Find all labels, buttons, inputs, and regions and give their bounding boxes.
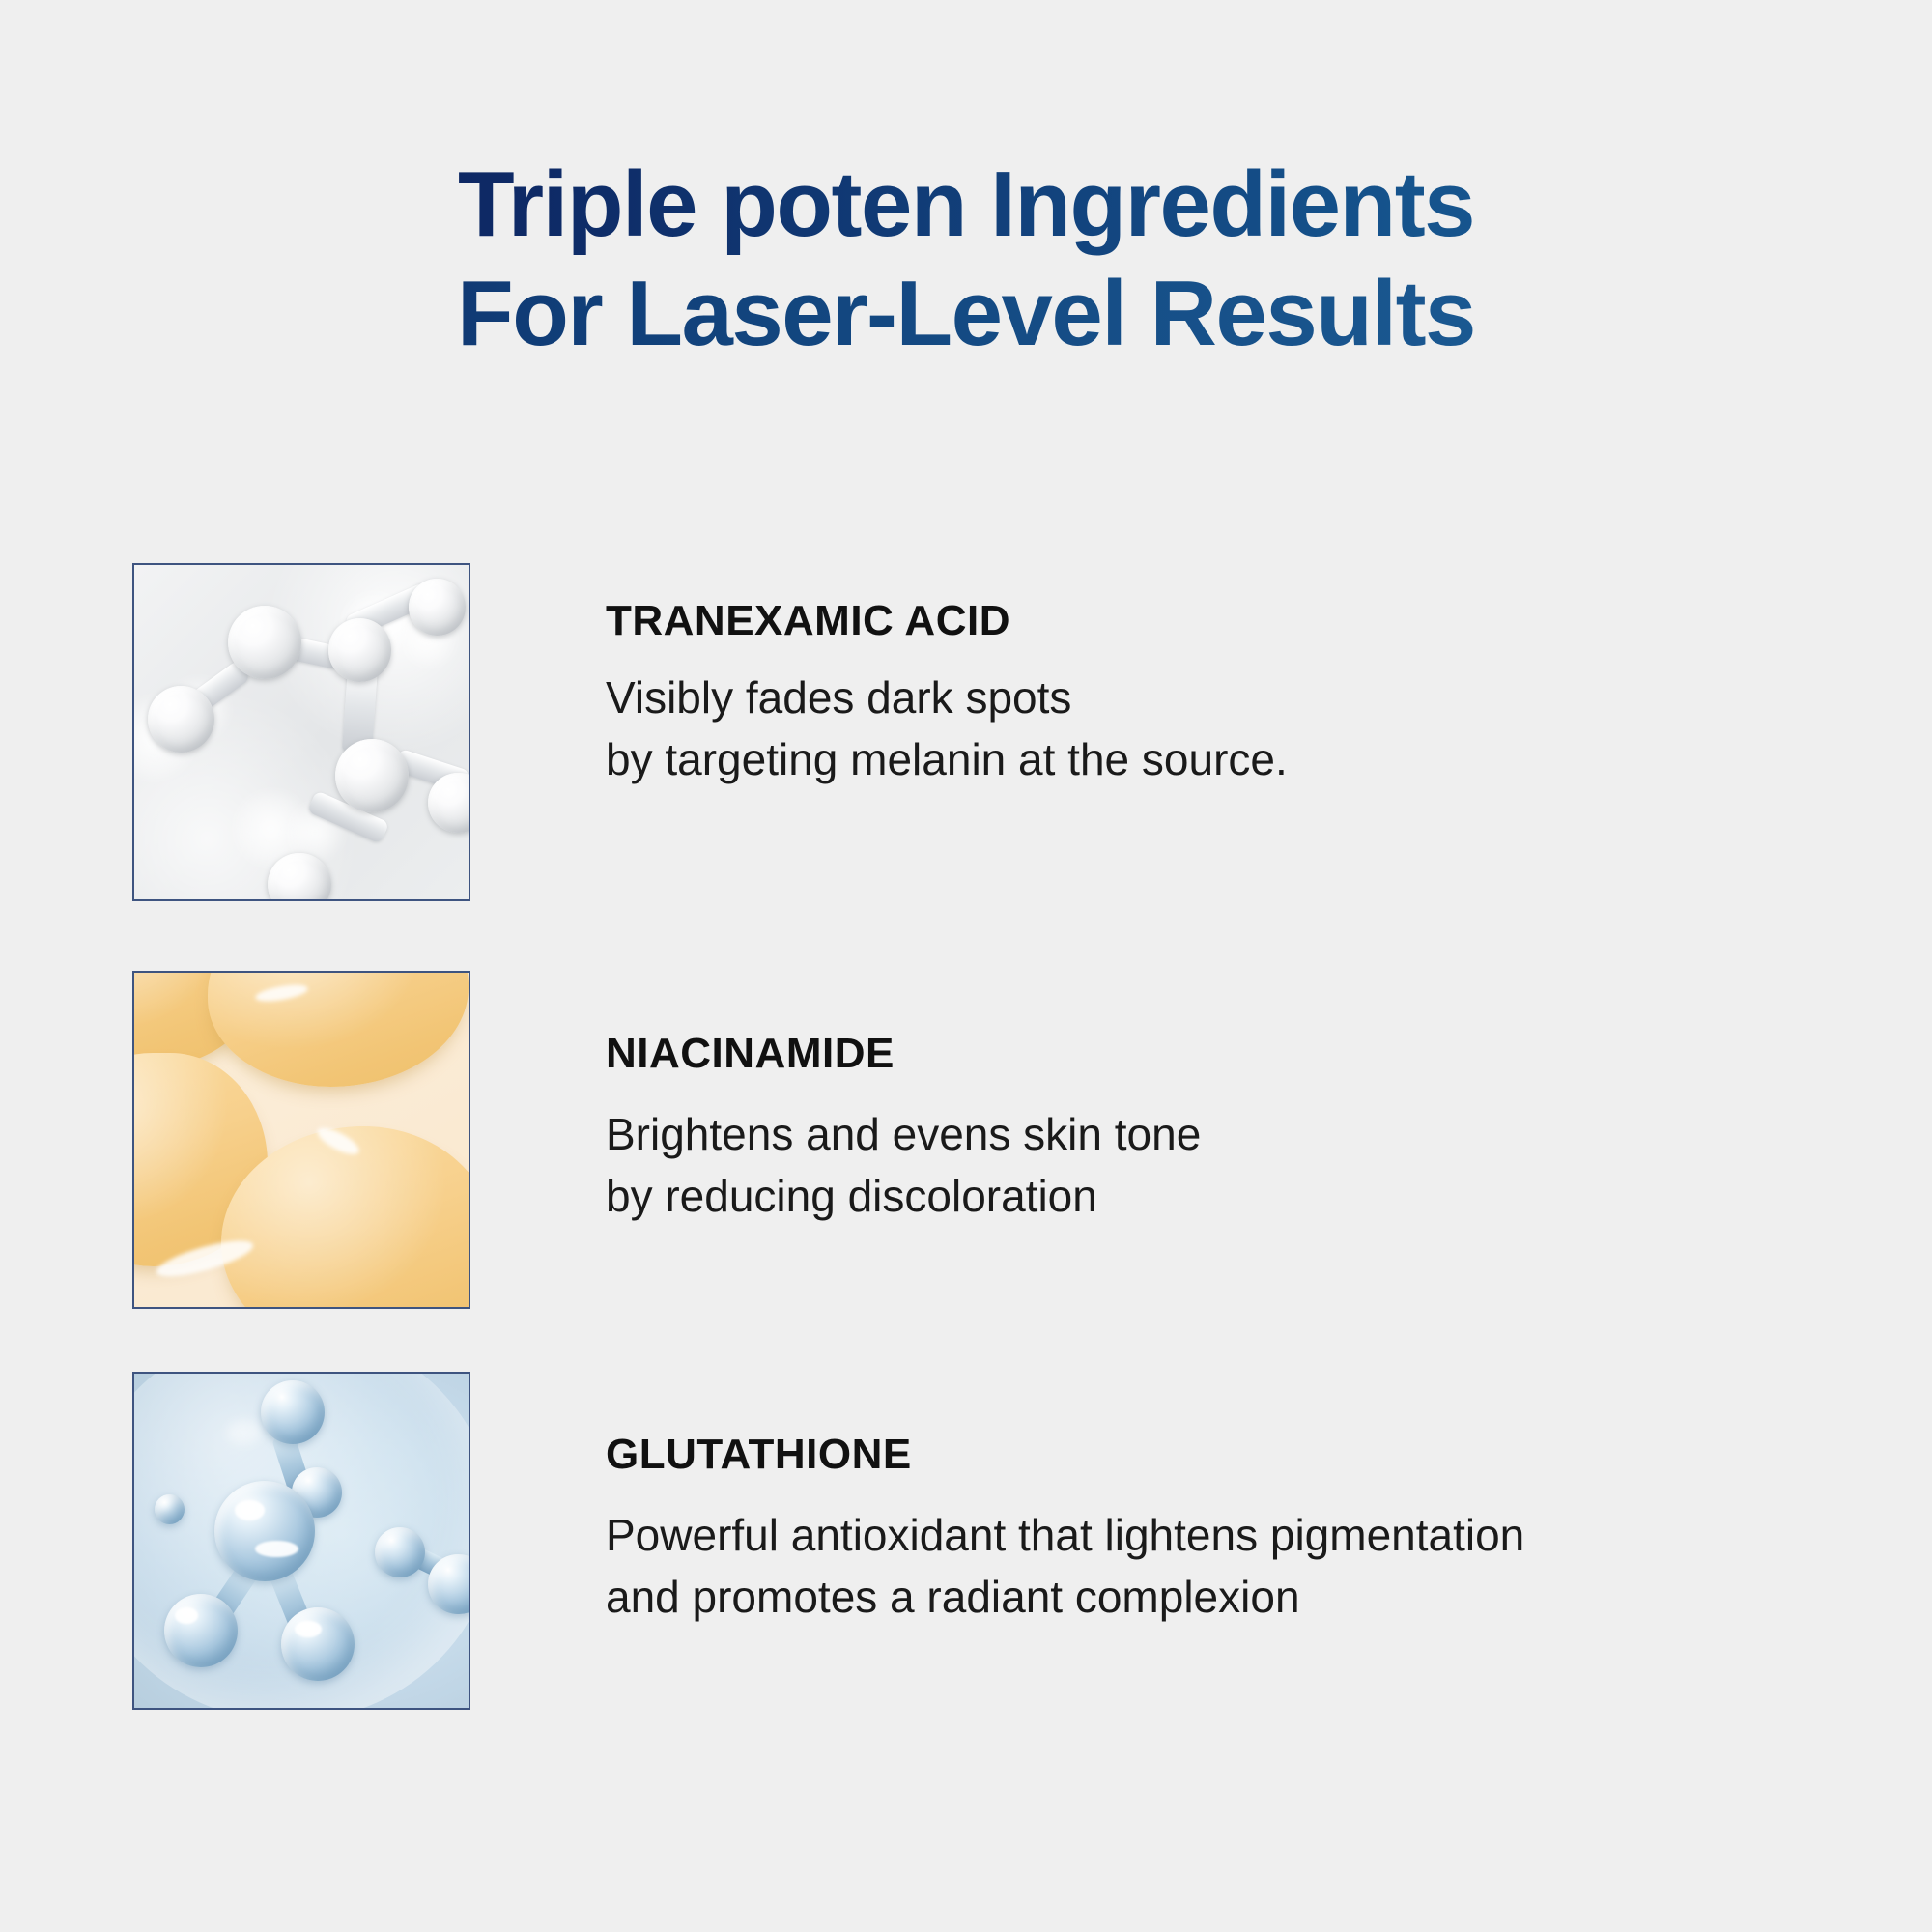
molecule-blue-thumbnail (132, 1372, 470, 1710)
ingredient-name: TRANEXAMIC ACID (606, 598, 1288, 644)
ingredient-description: Brightens and evens skin tone by reducin… (606, 1104, 1201, 1227)
ingredient-text-niacinamide: NIACINAMIDE Brightens and evens skin ton… (470, 971, 1201, 1227)
page-title-line-1: Triple poten Ingredients (0, 150, 1932, 259)
ingredient-name: NIACINAMIDE (606, 1031, 1201, 1077)
serum-droplets-image (134, 973, 469, 1307)
ingredient-row-tranexamic-acid: TRANEXAMIC ACID Visibly fades dark spots… (132, 563, 1813, 901)
ingredient-row-niacinamide: NIACINAMIDE Brightens and evens skin ton… (132, 971, 1813, 1309)
ingredient-description: Powerful antioxidant that lightens pigme… (606, 1505, 1524, 1628)
molecule-blue-image (134, 1374, 469, 1708)
page-title-line-2: For Laser-Level Results (0, 259, 1932, 368)
serum-droplets-thumbnail (132, 971, 470, 1309)
ingredient-text-glutathione: GLUTATHIONE Powerful antioxidant that li… (470, 1372, 1524, 1628)
ingredients-infographic: Triple poten Ingredients For Laser-Level… (0, 0, 1932, 1932)
ingredient-text-tranexamic-acid: TRANEXAMIC ACID Visibly fades dark spots… (470, 563, 1288, 790)
ingredient-name: GLUTATHIONE (606, 1432, 1524, 1478)
molecule-white-image (134, 565, 469, 899)
ingredient-row-glutathione: GLUTATHIONE Powerful antioxidant that li… (132, 1372, 1813, 1710)
molecule-white-thumbnail (132, 563, 470, 901)
page-title: Triple poten Ingredients For Laser-Level… (0, 150, 1932, 369)
ingredient-description: Visibly fades dark spots by targeting me… (606, 668, 1288, 790)
